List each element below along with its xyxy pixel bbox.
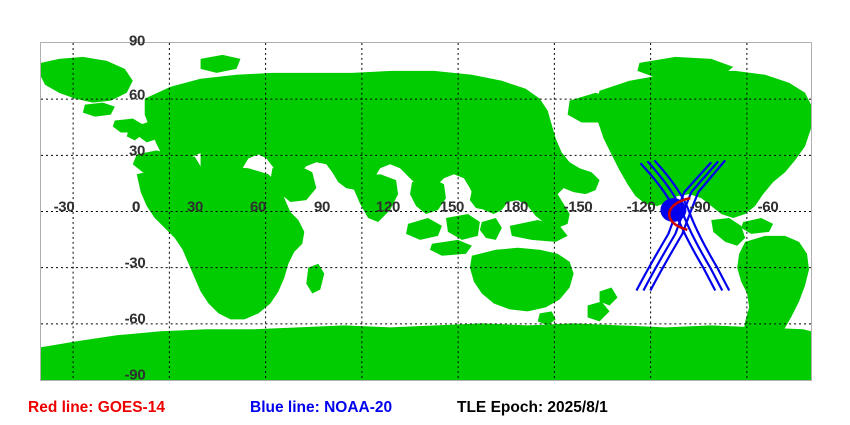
antarctica-landmass (41, 323, 811, 380)
legend-goes14-label: Red line: GOES-14 (28, 396, 165, 420)
new-zealand-south-landmass (588, 301, 610, 321)
world-map-canvas (41, 43, 811, 380)
central-america-landmass (711, 218, 745, 246)
india-landmass (354, 174, 398, 222)
greenland-landmass (41, 57, 133, 103)
australia-landmass (470, 248, 574, 312)
arctic-island-a (83, 103, 115, 117)
caribbean-landmass (741, 218, 773, 234)
indochina-landmass (410, 178, 446, 214)
legend-bar: Red line: GOES-14 Blue line: NOAA-20 TLE… (0, 396, 850, 420)
sulawesi-landmass (480, 218, 502, 240)
satellite-map-figure: -30 0 30 60 90 120 150 180 -150 -120 -90… (0, 0, 850, 425)
legend-noaa20-label: Blue line: NOAA-20 (250, 396, 392, 420)
map-plot-area (40, 42, 812, 381)
tasmania-landmass (538, 311, 556, 325)
java-landmass (430, 240, 472, 256)
svalbard-landmass (201, 55, 241, 73)
borneo-landmass (446, 214, 480, 240)
sumatra-landmass (406, 218, 442, 240)
legend-tle-epoch-label: TLE Epoch: 2025/8/1 (457, 396, 608, 420)
north-america-landmass (596, 71, 811, 218)
land-layer (41, 55, 811, 380)
